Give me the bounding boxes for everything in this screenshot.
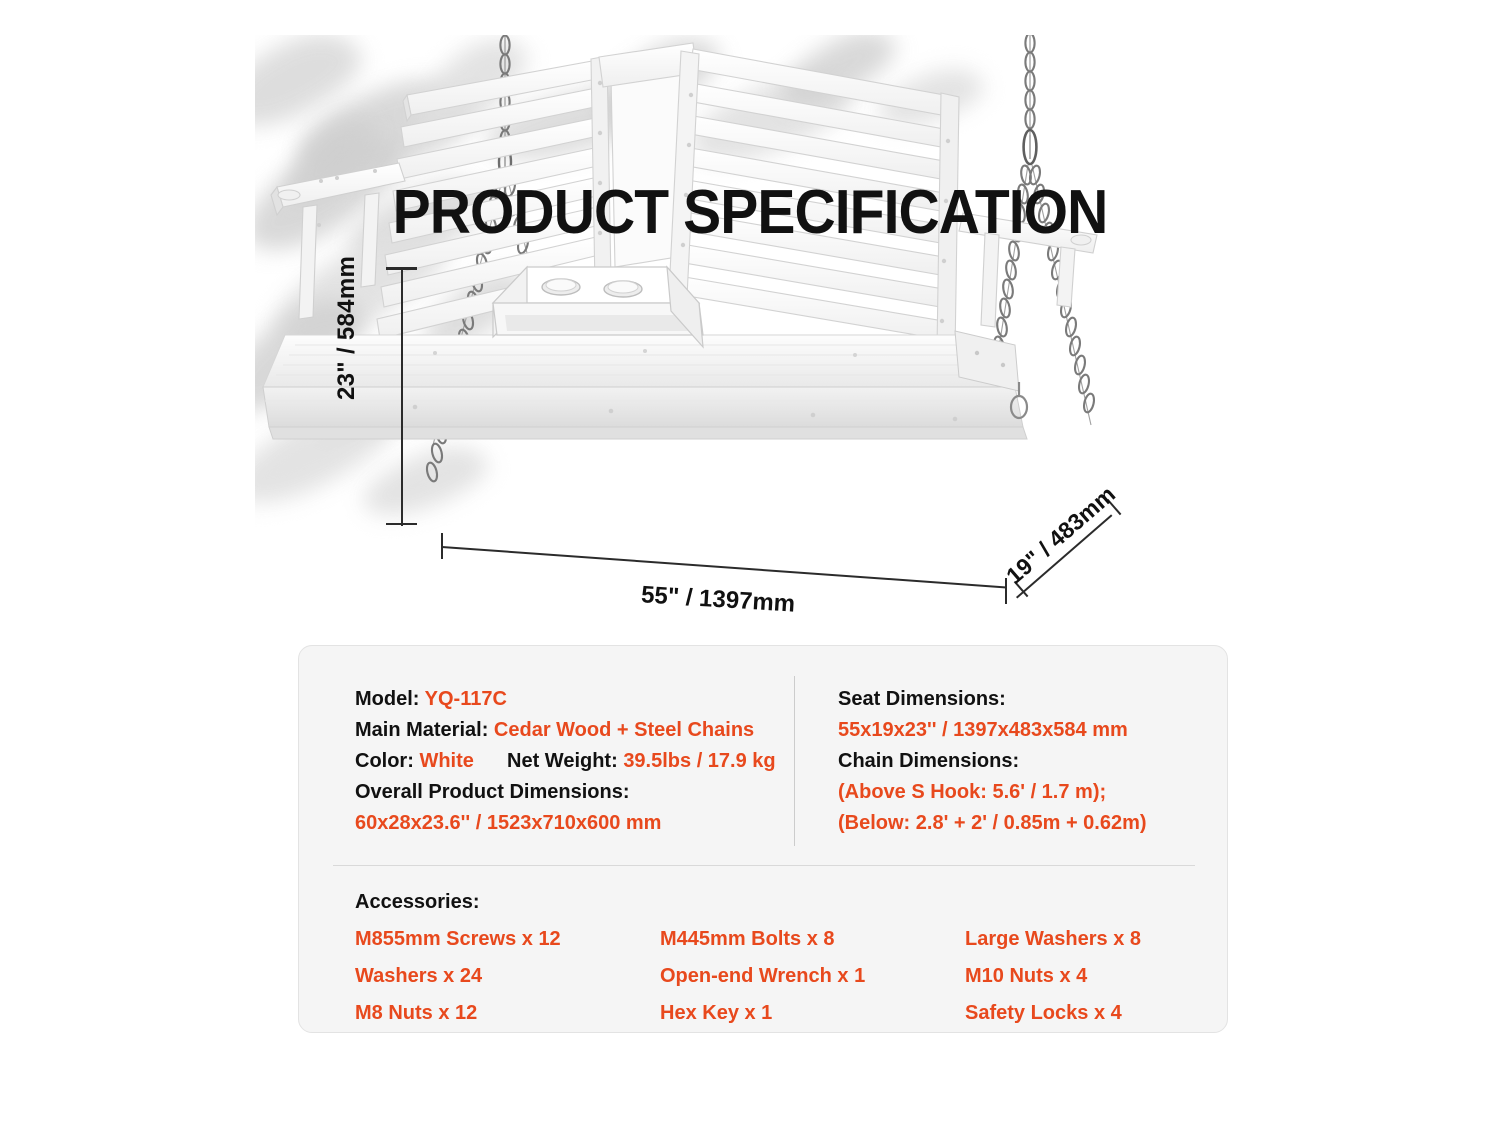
accessory-item: Open-end Wrench x 1 (660, 961, 965, 991)
spec-label-seat-dimensions: Seat Dimensions: (838, 688, 1006, 710)
width-dimension-tick-left (441, 533, 443, 559)
product-specification-page: PRODUCT SPECIFICATION 23" / 584mm 55" / … (0, 0, 1500, 1125)
spec-value-material: Cedar Wood + Steel Chains (494, 719, 754, 741)
specification-panel: Model: YQ-117C Main Material: Cedar Wood… (298, 645, 1228, 1033)
spec-value-seat-dimensions: 55x19x23'' / 1397x483x584 mm (838, 719, 1128, 741)
accessory-item: M10 Nuts x 4 (965, 961, 1227, 991)
height-dimension-label: 23" / 584mm (333, 200, 361, 400)
page-title: PRODUCT SPECIFICATION (60, 177, 1440, 248)
height-dimension-line (401, 268, 403, 526)
spec-row-seat-dimensions-value: 55x19x23'' / 1397x483x584 mm (838, 715, 1227, 746)
specification-top-section: Model: YQ-117C Main Material: Cedar Wood… (299, 646, 1227, 864)
specification-right-column: Seat Dimensions: 55x19x23'' / 1397x483x5… (794, 646, 1227, 864)
s-hook-icon (1024, 130, 1037, 164)
spec-row-material: Main Material: Cedar Wood + Steel Chains (355, 715, 794, 746)
accessory-item: Hex Key x 1 (660, 998, 965, 1028)
height-dimension-tick-bottom (386, 523, 417, 525)
spec-label-material: Main Material: (355, 719, 488, 741)
spec-row-seat-dimensions-label: Seat Dimensions: (838, 684, 1227, 715)
specification-vertical-divider (794, 676, 795, 846)
spec-row-chain-above: (Above S Hook: 5.6' / 1.7 m); (838, 777, 1227, 808)
spec-row-overall-dimensions-value: 60x28x23.6'' / 1523x710x600 mm (355, 808, 794, 839)
spec-label-color: Color: (355, 750, 414, 772)
spec-label-model: Model: (355, 688, 419, 710)
spec-label-chain-dimensions: Chain Dimensions: (838, 750, 1019, 772)
spec-row-chain-below: (Below: 2.8' + 2' / 0.85m + 0.62m) (838, 808, 1227, 839)
spec-label-overall-dimensions: Overall Product Dimensions: (355, 781, 630, 803)
spec-row-chain-dimensions-label: Chain Dimensions: (838, 746, 1227, 777)
seat-deck (263, 335, 1015, 387)
height-dimension-tick-top (386, 267, 417, 270)
accessory-item: M445mm Bolts x 8 (660, 924, 965, 954)
seat-front-rail (263, 387, 1027, 439)
accessory-item: Safety Locks x 4 (965, 998, 1227, 1028)
specification-left-column: Model: YQ-117C Main Material: Cedar Wood… (299, 646, 794, 864)
spec-row-overall-dimensions-label: Overall Product Dimensions: (355, 777, 794, 808)
accessory-item: M8 Nuts x 12 (355, 998, 660, 1028)
accessory-item: Large Washers x 8 (965, 924, 1227, 954)
product-hero-image (255, 35, 1255, 635)
specification-horizontal-divider (333, 865, 1195, 866)
accessories-grid: M855mm Screws x 12 M445mm Bolts x 8 Larg… (355, 924, 1227, 1028)
accessory-item: M855mm Screws x 12 (355, 924, 660, 954)
spec-value-color: White (419, 750, 473, 772)
spec-label-net-weight: Net Weight: (507, 750, 618, 772)
spec-value-chain-below: (Below: 2.8' + 2' / 0.85m + 0.62m) (838, 812, 1147, 834)
spec-value-model: YQ-117C (425, 688, 507, 710)
spec-row-color-weight: Color: White Net Weight: 39.5lbs / 17.9 … (355, 746, 794, 777)
spec-value-overall-dimensions: 60x28x23.6'' / 1523x710x600 mm (355, 812, 661, 834)
porch-swing-illustration (255, 35, 1255, 635)
spec-value-chain-above: (Above S Hook: 5.6' / 1.7 m); (838, 781, 1106, 803)
accessories-section: Accessories: M855mm Screws x 12 M445mm B… (299, 874, 1227, 1028)
spec-value-net-weight: 39.5lbs / 17.9 kg (623, 750, 775, 772)
width-dimension-tick-right (1005, 578, 1007, 604)
accessory-item: Washers x 24 (355, 961, 660, 991)
accessories-heading: Accessories: (355, 886, 1227, 918)
spec-row-model: Model: YQ-117C (355, 684, 794, 715)
cup-holder-console (493, 267, 703, 347)
